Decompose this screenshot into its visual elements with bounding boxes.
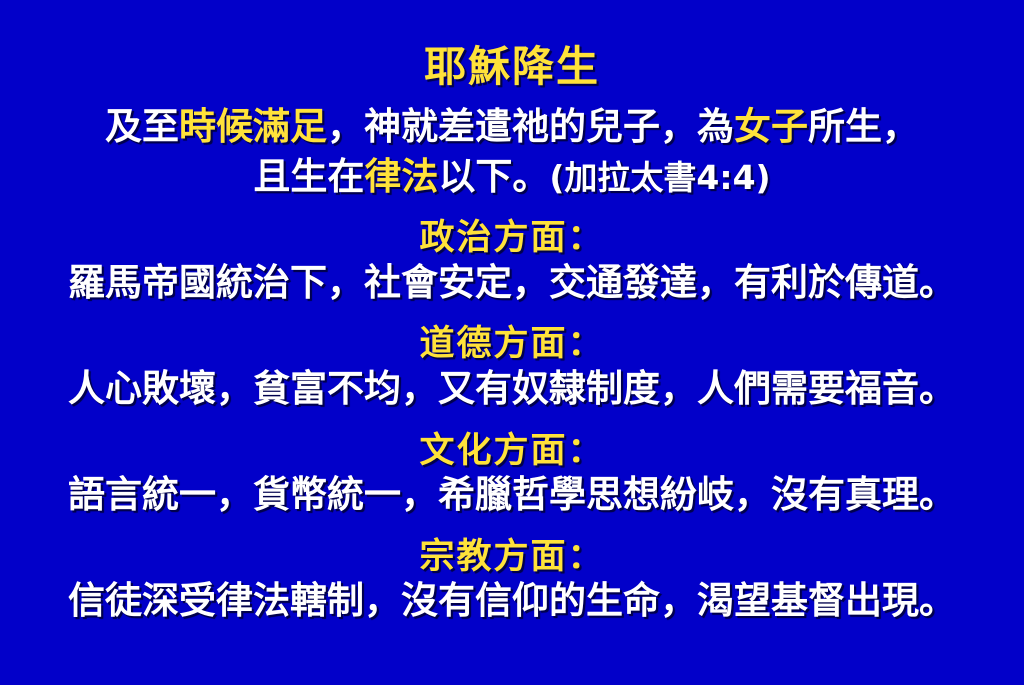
section-body-political: 羅馬帝國統治下，社會安定，交通發達，有利於傳道。 <box>0 264 1024 301</box>
verse-segment-4: 女子 <box>734 105 808 148</box>
slide-title: 耶穌降生 <box>0 46 1024 88</box>
slide-canvas: 耶穌降生 及至時候滿足，神就差遣祂的兒子，為女子所生， 且生在律法以下。(加拉太… <box>0 0 1024 685</box>
scripture-citation: (加拉太書4:4) <box>549 158 770 197</box>
verse-segment-3: ，神就差遣祂的兒子，為 <box>327 105 734 148</box>
section-heading-moral: 道德方面： <box>0 327 1024 362</box>
verse-segment-5: 所生， <box>808 105 919 148</box>
scripture-line-2: 且生在律法以下。(加拉太書4:4) <box>0 158 1024 195</box>
verse-segment-1: 及至 <box>105 105 179 148</box>
scripture-line-1: 及至時候滿足，神就差遣祂的兒子，為女子所生， <box>0 108 1024 145</box>
section-heading-political: 政治方面： <box>0 221 1024 256</box>
section-heading-cultural: 文化方面： <box>0 434 1024 469</box>
verse-segment-7: 律法 <box>364 155 438 198</box>
section-body-cultural: 語言統一，貨幣統一，希臘哲學思想紛岐，沒有真理。 <box>0 476 1024 513</box>
verse-segment-8: 以下。 <box>438 155 549 198</box>
verse-segment-6: 且生在 <box>253 155 364 198</box>
verse-segment-2: 時候滿足 <box>179 105 327 148</box>
section-body-religious: 信徒深受律法轄制，沒有信仰的生命，渴望基督出現。 <box>0 582 1024 619</box>
section-body-moral: 人心敗壞，貧富不均，又有奴隸制度，人們需要福音。 <box>0 370 1024 407</box>
section-heading-religious: 宗教方面： <box>0 540 1024 575</box>
